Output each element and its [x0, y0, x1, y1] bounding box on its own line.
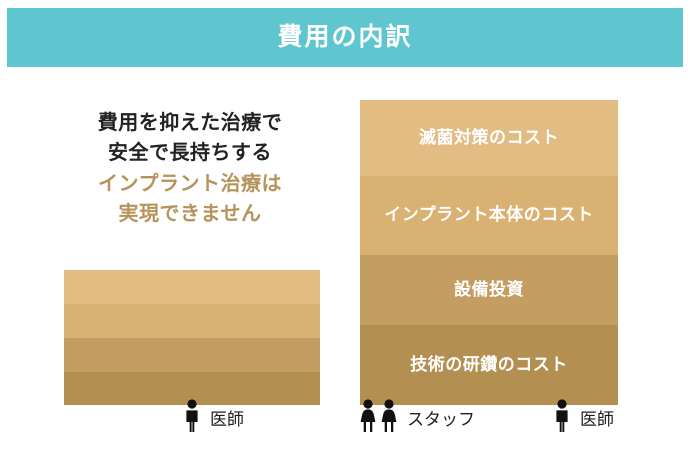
right-panel: 滅菌対策のコストインプラント本体のコスト設備投資技術の研鑽のコスト [360, 100, 618, 405]
person-female-icon [358, 399, 378, 432]
left-stacked-bar-chart [64, 270, 320, 405]
left-panel: 費用を抑えた治療で 安全で長持ちする インプラント治療は 実現できません [30, 108, 350, 438]
chart-band-label: 技術の研鑽のコスト [404, 353, 574, 377]
chart-band [64, 304, 320, 338]
right-stacked-bar-chart: 滅菌対策のコストインプラント本体のコスト設備投資技術の研鑽のコスト [360, 100, 618, 405]
message-line-4: 実現できません [30, 199, 350, 229]
header-banner: 費用の内訳 [7, 8, 683, 67]
chart-band: 技術の研鑽のコスト [360, 325, 618, 405]
chart-band-label: 設備投資 [448, 278, 530, 302]
message-line-1: 費用を抑えた治療で [30, 108, 350, 138]
chart-band-label: 滅菌対策のコスト [413, 126, 565, 150]
page-title: 費用の内訳 [277, 25, 412, 50]
legend-label-doctor-left: 医師 [210, 411, 244, 428]
person-male-icon [552, 399, 572, 432]
message-line-2: 安全で長持ちする [30, 138, 350, 168]
legend-right-doctor: 医師 [552, 398, 614, 432]
message-line-3: インプラント治療は [30, 169, 350, 199]
left-message-block: 費用を抑えた治療で 安全で長持ちする インプラント治療は 実現できません [30, 108, 350, 230]
chart-band [64, 338, 320, 372]
chart-band-label: インプラント本体のコスト [378, 203, 600, 227]
person-female-icon [379, 399, 399, 432]
legend-right-staff: スタッフ [358, 398, 475, 432]
legend-label-staff: スタッフ [407, 411, 475, 428]
chart-band: 設備投資 [360, 255, 618, 325]
chart-band: 滅菌対策のコスト [360, 100, 618, 176]
chart-band: インプラント本体のコスト [360, 176, 618, 255]
chart-band [64, 270, 320, 304]
legend-label-doctor-right: 医師 [580, 411, 614, 428]
person-male-icon [182, 399, 202, 432]
legend-left-doctor: 医師 [182, 398, 244, 432]
